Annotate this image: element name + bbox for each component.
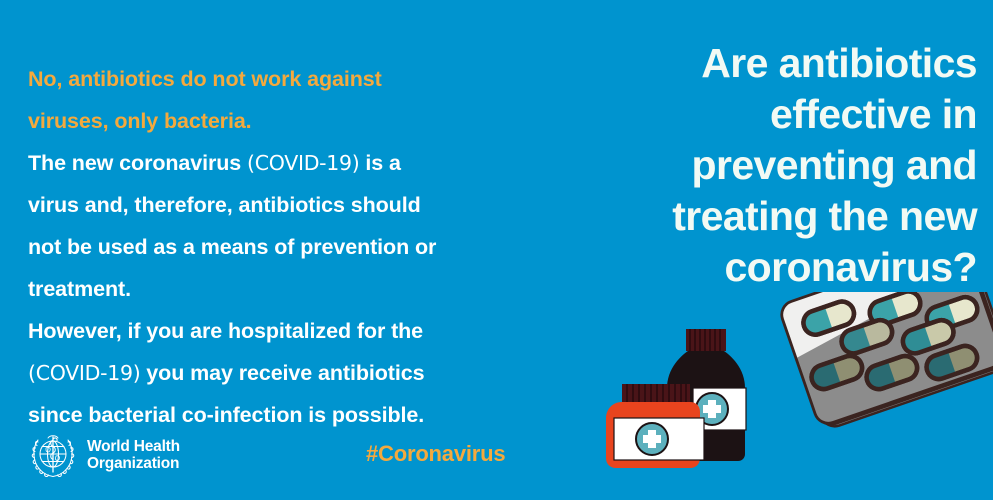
headline-line-1: Are antibiotics: [557, 38, 977, 89]
orange-medicine-bottle-icon: [606, 384, 704, 468]
pill-blister-pack-icon: [740, 292, 993, 480]
medicine-illustration-icon: [590, 292, 993, 500]
body-line-4: virus and, therefore, antibiotics should: [28, 184, 558, 226]
body-line-2: viruses, only bacteria.: [28, 100, 558, 142]
body-line-7: However, if you are hospitalized for the: [28, 310, 558, 352]
body-line-8: (COVID-19) you may receive antibiotics: [28, 352, 558, 394]
illustration-medicine: [590, 292, 993, 500]
who-wordmark-line-2: Organization: [87, 455, 180, 473]
who-emblem-icon: [28, 430, 78, 480]
body-line-3-head: The new coronavirus: [28, 151, 247, 175]
body-copy-block: No, antibiotics do not work against viru…: [28, 58, 558, 436]
covid-term-inline-1: (COVID-19): [247, 151, 359, 175]
covid-term-inline-2: (COVID-19): [28, 361, 140, 385]
headline-line-5: coronavirus?: [557, 242, 977, 293]
body-line-5: not be used as a means of prevention or: [28, 226, 558, 268]
body-line-3-tail: is a: [359, 151, 400, 175]
headline-line-4: treating the new: [557, 191, 977, 242]
who-wordmark-line-1: World Health: [87, 438, 180, 456]
body-line-8-tail: you may receive antibiotics: [140, 361, 424, 385]
headline-line-2: effective in: [557, 89, 977, 140]
page-title: Are antibiotics effective in preventing …: [557, 38, 977, 293]
body-line-6: treatment.: [28, 268, 558, 310]
who-logo: World Health Organization: [28, 430, 180, 480]
headline-line-3: preventing and: [557, 140, 977, 191]
body-line-1: No, antibiotics do not work against: [28, 58, 558, 100]
who-covid-infographic-poster: No, antibiotics do not work against viru…: [0, 0, 993, 500]
who-wordmark: World Health Organization: [87, 438, 180, 473]
body-line-3: The new coronavirus (COVID-19) is a: [28, 142, 558, 184]
hashtag-coronavirus: #Coronavirus: [366, 441, 505, 467]
